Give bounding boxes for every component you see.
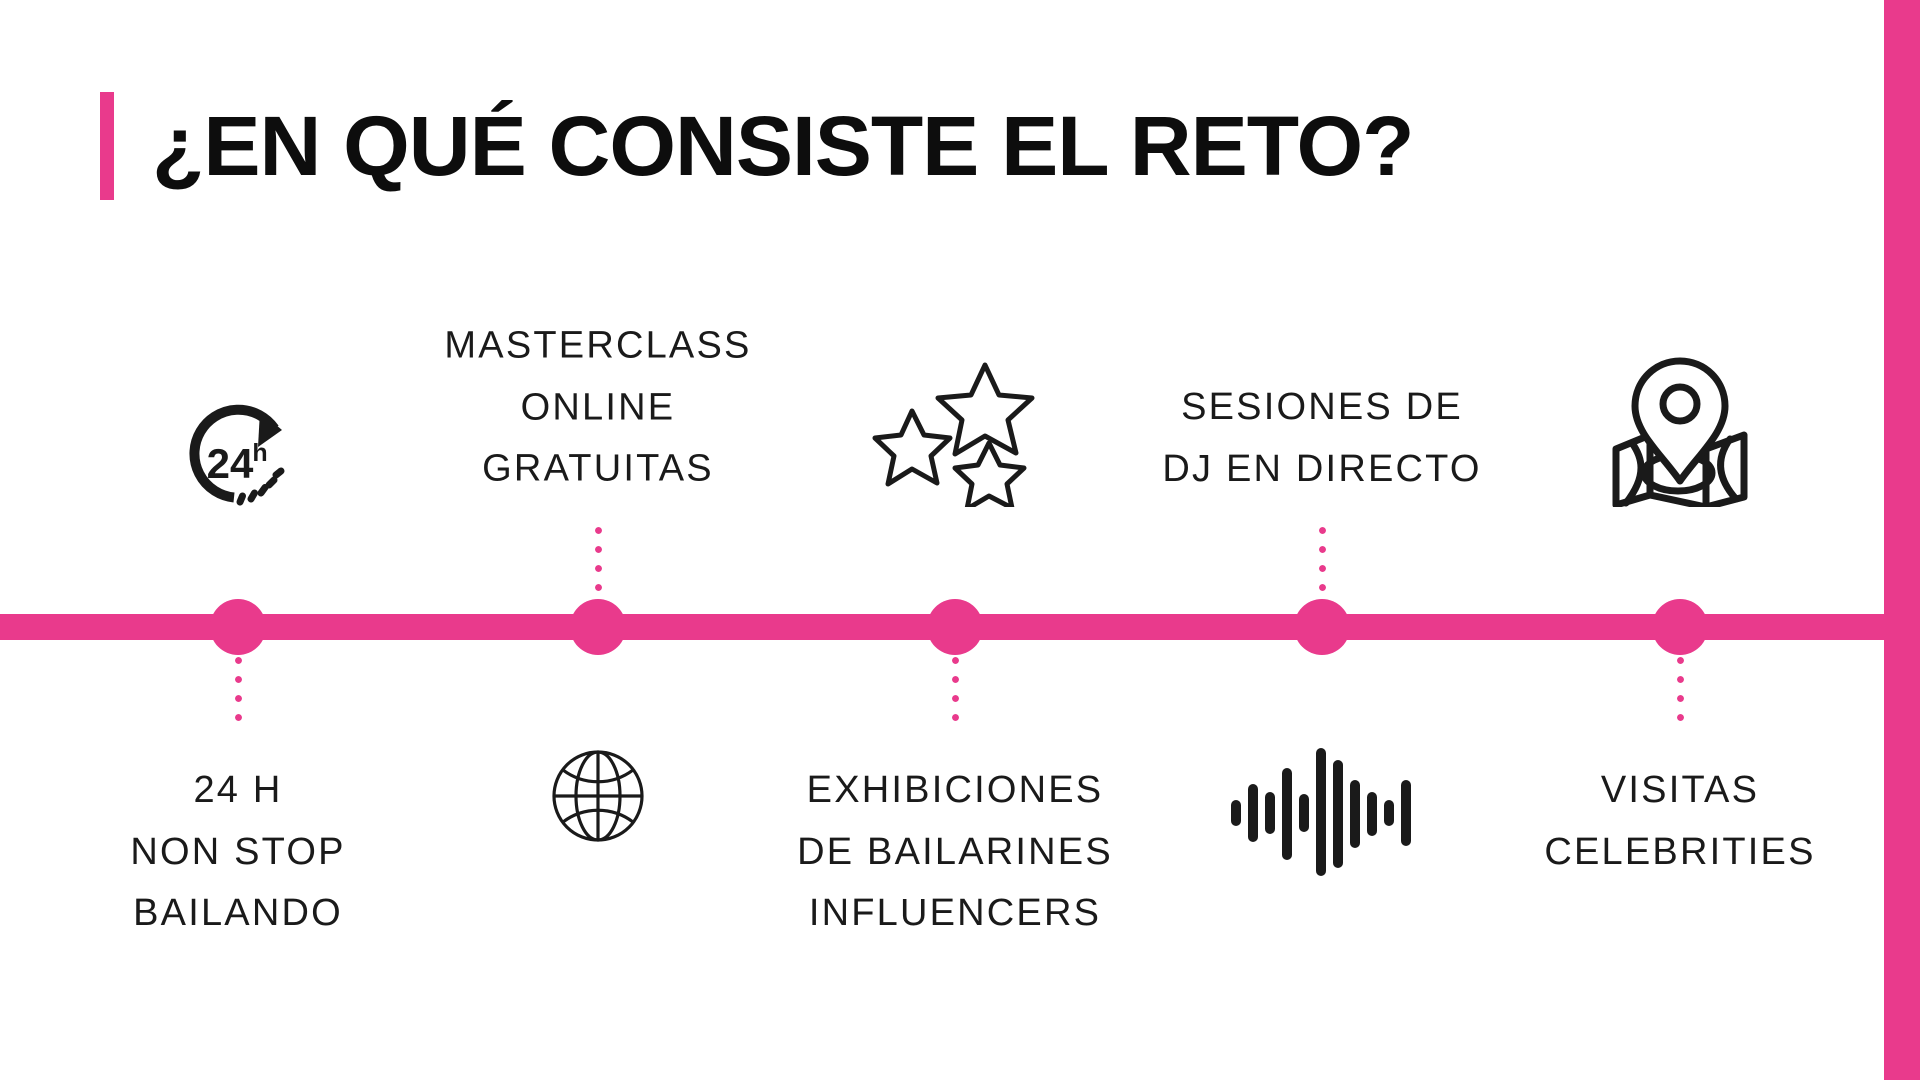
timeline-label-3: EXHIBICIONES DE BAILARINES INFLUENCERS — [797, 760, 1113, 945]
sound-wave-icon — [1229, 746, 1415, 878]
globe-icon — [546, 744, 650, 848]
timeline-label-4-line-2: DJ EN DIRECTO — [1162, 438, 1481, 500]
timeline-label-4: SESIONES DE DJ EN DIRECTO — [1162, 377, 1481, 500]
timeline-label-5: VISITAS CELEBRITIES — [1544, 760, 1815, 883]
clock-24h-value: 24 — [207, 440, 254, 487]
timeline-connector-1 — [235, 657, 242, 729]
page-title: ¿EN QUÉ CONSISTE EL RETO? — [100, 92, 1389, 200]
timeline-label-1: 24 H NON STOP BAILANDO — [130, 760, 345, 945]
timeline-node-3[interactable] — [927, 599, 983, 655]
right-edge-accent-bar — [1884, 0, 1920, 1080]
map-pin-icon — [1602, 357, 1758, 507]
timeline-label-4-line-1: SESIONES DE — [1162, 377, 1481, 439]
timeline-label-2: MASTERCLASS ONLINE GRATUITAS — [444, 315, 751, 500]
timeline-label-3-line-1: EXHIBICIONES — [797, 760, 1113, 822]
timeline-connector-4 — [1319, 527, 1326, 599]
slide-canvas: ¿EN QUÉ CONSISTE EL RETO? 24 h 24 H NON … — [0, 0, 1920, 1080]
title-accent-bar — [100, 92, 114, 200]
timeline-connector-5 — [1677, 657, 1684, 729]
clock-24h-icon: 24 h — [174, 401, 302, 523]
clock-24h-superscript: h — [252, 439, 267, 467]
timeline-label-5-line-1: VISITAS — [1544, 760, 1815, 822]
timeline-label-3-line-3: INFLUENCERS — [797, 883, 1113, 945]
three-stars-icon — [867, 357, 1043, 507]
timeline-label-2-line-2: ONLINE — [444, 377, 751, 439]
timeline-node-2[interactable] — [570, 599, 626, 655]
timeline-connector-2 — [595, 527, 602, 599]
timeline-label-1-line-3: BAILANDO — [130, 883, 345, 945]
page-title-text: ¿EN QUÉ CONSISTE EL RETO? — [152, 104, 1413, 188]
timeline-label-5-line-2: CELEBRITIES — [1544, 822, 1815, 884]
timeline-label-3-line-2: DE BAILARINES — [797, 822, 1113, 884]
timeline-label-1-line-1: 24 H — [130, 760, 345, 822]
timeline-node-4[interactable] — [1294, 599, 1350, 655]
timeline-node-5[interactable] — [1652, 599, 1708, 655]
timeline-node-1[interactable] — [210, 599, 266, 655]
timeline-label-2-line-3: GRATUITAS — [444, 438, 751, 500]
timeline-connector-3 — [952, 657, 959, 729]
timeline-label-2-line-1: MASTERCLASS — [444, 315, 751, 377]
timeline-label-1-line-2: NON STOP — [130, 822, 345, 884]
